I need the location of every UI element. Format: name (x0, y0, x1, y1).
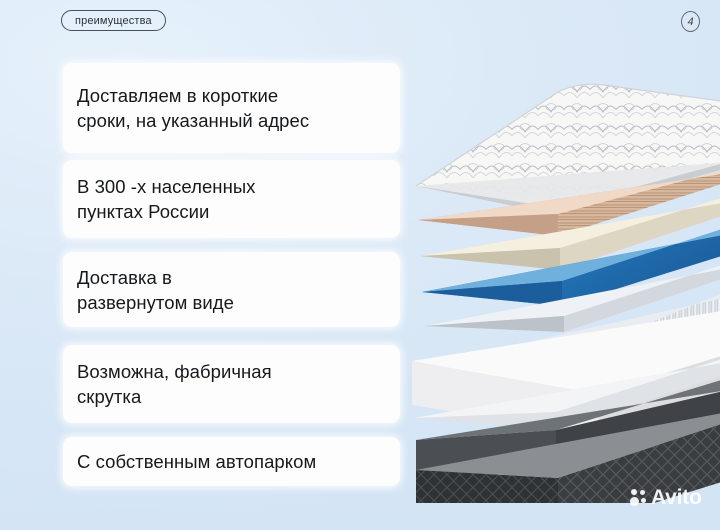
category-badge: преимущества (61, 10, 166, 31)
avito-dots-icon (630, 489, 647, 506)
category-badge-label: преимущества (75, 15, 152, 27)
feature-card-text: В 300 -х населенных пунктах России (77, 174, 255, 224)
avito-brand-text: Avito (651, 487, 702, 508)
feature-card-text: Возможна, фабричная скрутка (77, 359, 272, 409)
slide-canvas: преимущества 4 Доставляем в короткие сро… (0, 0, 720, 530)
mattress-layers-image (408, 78, 720, 503)
feature-card: В 300 -х населенных пунктах России (63, 160, 400, 238)
page-number-indicator: 4 (681, 11, 700, 32)
page-number-value: 4 (687, 16, 693, 28)
feature-card: Доставка в развернутом виде (63, 252, 400, 327)
feature-card-text: Доставляем в короткие сроки, на указанны… (77, 83, 309, 133)
feature-card: Возможна, фабричная скрутка (63, 345, 400, 423)
feature-card-text: С собственным автопарком (77, 449, 316, 474)
feature-card: Доставляем в короткие сроки, на указанны… (63, 63, 400, 153)
feature-card-text: Доставка в развернутом виде (77, 265, 234, 315)
feature-card: С собственным автопарком (63, 437, 400, 486)
avito-watermark: Avito (630, 487, 702, 508)
